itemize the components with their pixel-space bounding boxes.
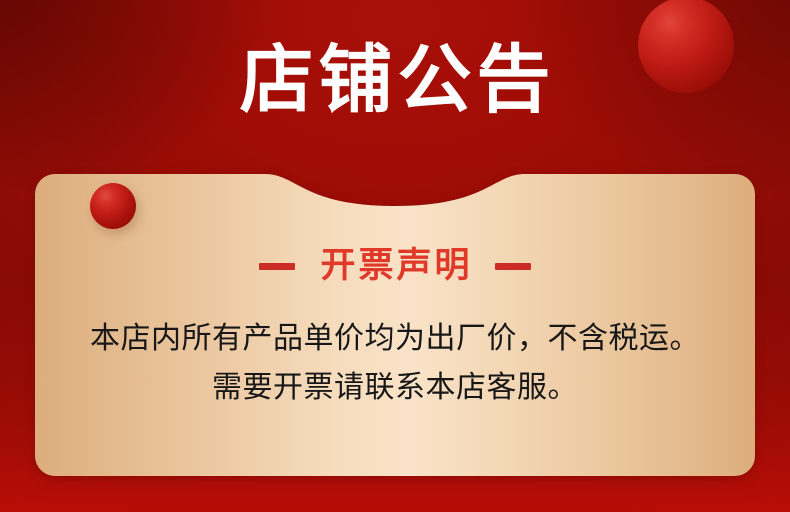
store-announcement-poster: 店铺公告 开票声	[0, 0, 790, 512]
page-title: 店铺公告	[0, 38, 790, 122]
red-sphere-icon-small	[90, 183, 136, 229]
card-body-line-1: 本店内所有产品单价均为出厂价，不含税运。	[35, 314, 755, 363]
announcement-card: 开票声明 本店内所有产品单价均为出厂价，不含税运。 需要开票请联系本店客服。	[35, 174, 755, 476]
dash-right-icon	[495, 263, 531, 270]
card-content: 开票声明 本店内所有产品单价均为出厂价，不含税运。 需要开票请联系本店客服。	[35, 174, 755, 476]
dash-left-icon	[259, 263, 295, 270]
card-body-line-2: 需要开票请联系本店客服。	[35, 363, 755, 412]
card-subtitle: 开票声明	[317, 246, 472, 286]
card-body: 本店内所有产品单价均为出厂价，不含税运。 需要开票请联系本店客服。	[35, 314, 755, 412]
card-subtitle-row: 开票声明	[35, 246, 755, 286]
